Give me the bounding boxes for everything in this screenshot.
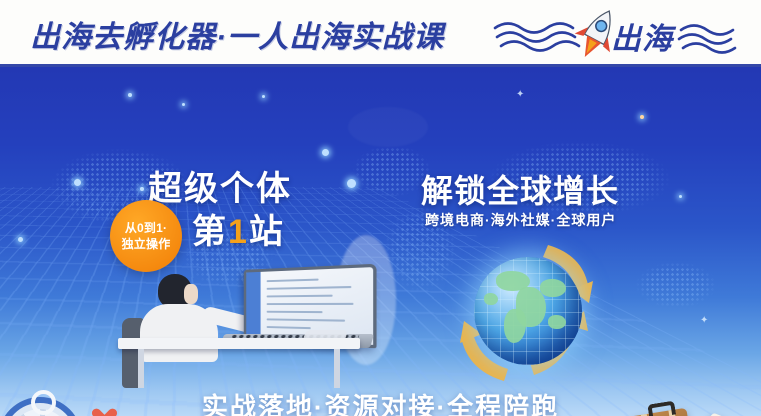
particle-dot: [640, 115, 644, 119]
swoosh-accent: [348, 107, 428, 147]
desk-icon: [118, 338, 360, 349]
desk-leg: [138, 349, 144, 388]
page-title: 出海去孵化器·一人出海实战课: [30, 12, 444, 56]
particle-dot: [182, 103, 185, 106]
hero-left-suffix: 站: [249, 213, 285, 251]
screen-line: [267, 326, 311, 329]
person-face: [184, 284, 198, 304]
particle-dot: [74, 179, 81, 186]
globe-icon: [452, 239, 600, 387]
compass-loop: [31, 390, 56, 415]
hero-left-number: 1: [228, 213, 249, 251]
hero-left-prefix: 第: [192, 213, 228, 251]
screen-sidebar: [246, 272, 260, 340]
particle-dot: [679, 195, 682, 198]
particle-dot: [322, 149, 329, 156]
screen-line: [267, 303, 354, 305]
hero-canvas: ✦ ✦ 超级个体 第1站 从0到1· 独立操作: [0, 67, 761, 416]
screen-line: [267, 295, 333, 298]
particle-dot: [18, 237, 23, 242]
particle-dot: [347, 179, 356, 188]
screen-line: [267, 311, 323, 313]
badge-line-2: 独立操作: [122, 236, 171, 252]
sparkle-icon: ✦: [700, 315, 708, 326]
hero-left-title-line1: 超级个体: [148, 161, 292, 210]
badge-line-1: 从0到1·: [125, 220, 167, 236]
hero-right-title: 解锁全球增长: [421, 166, 619, 212]
compass-icon: [0, 397, 82, 416]
particle-dot: [140, 187, 144, 191]
screen-line: [267, 318, 345, 321]
landmass: [484, 293, 498, 305]
hero-left-title-line2: 第1站: [192, 204, 285, 253]
header-bar: 出海去孵化器·一人出海实战课: [0, 0, 761, 67]
logo-text: 出海: [611, 14, 673, 58]
sparkle-icon: ✦: [516, 89, 524, 100]
brand-logo: 出海: [493, 6, 743, 61]
person-at-desk-icon: [118, 262, 368, 388]
landmass: [548, 315, 566, 329]
particle-dot: [128, 93, 132, 97]
screen-line: [267, 279, 319, 283]
desk-leg: [334, 349, 340, 388]
particle-dot: [262, 95, 265, 98]
promo-poster: 出海去孵化器·一人出海实战课: [0, 0, 761, 416]
hero-right-subtitle: 跨境电商·海外社媒·全球用户: [425, 210, 616, 230]
heart-icon: [92, 409, 109, 416]
screen-line: [267, 286, 352, 290]
globe-sphere: [474, 257, 582, 365]
landmass: [540, 279, 566, 297]
